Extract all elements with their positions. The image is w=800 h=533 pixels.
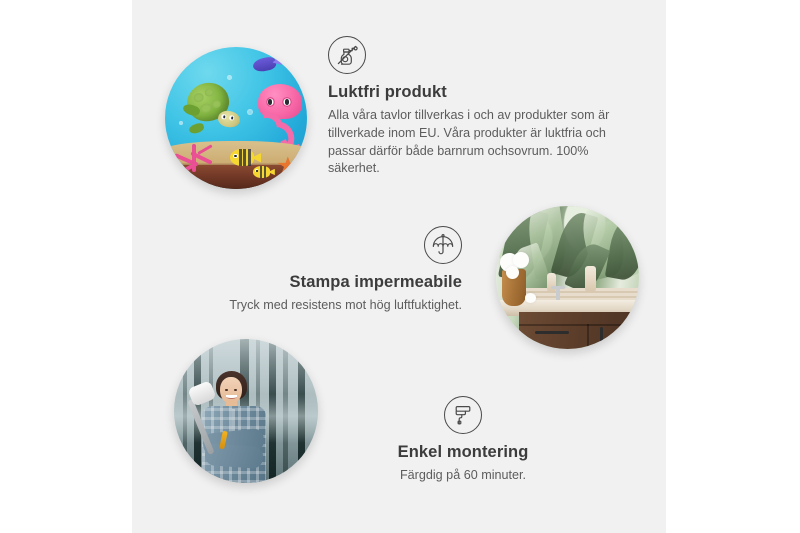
feature-icon-row [192,226,462,264]
smile [226,395,236,400]
umbrella-icon [424,226,462,264]
flower-icon [506,266,519,279]
soap-bottle [547,273,556,292]
photo-underwater-kids-illustration [165,47,307,189]
feature-body: Tryck med resistens mot hög luftfuktighe… [192,297,462,315]
turtle-head [217,110,241,129]
feature-stampa-impermeabile: Stampa impermeabile Tryck med resistens … [192,226,462,315]
feature-icon-row [328,36,634,74]
yellow-fish-illustration [230,149,254,166]
feature-title: Luktfri produkt [328,83,634,103]
content-panel: Luktfri produkt Alla våra tavlor tillver… [132,0,666,533]
yellow-fish-illustration [253,166,270,177]
bathroom-scene [496,206,639,349]
soap-bottle [585,266,596,292]
feature-body: Alla våra tavlor tillverkas i och av pro… [328,107,634,179]
coral-illustration [171,135,219,172]
paint-roller-icon [444,396,482,434]
feature-luktfri-produkt: Luktfri produkt Alla våra tavlor tillver… [328,36,634,178]
turtle-illustration [183,83,240,131]
feature-title: Stampa impermeabile [192,273,462,293]
cabinet-handle [535,331,569,334]
wooden-vanity-cabinet [519,312,639,349]
tile-backsplash [519,288,639,301]
feature-enkel-montering: Enkel montering Färgdig på 60 minuter. [330,396,596,485]
forest-scene [174,339,318,483]
feature-body: Färgdig på 60 minuter. [330,467,596,485]
photo-bathroom-tropical-wallpaper [496,206,639,349]
underwater-scene [165,47,307,189]
cabinet-handle [600,327,603,344]
woman-figure [197,371,278,483]
photo-woman-with-paint-roller-forest [174,339,318,483]
no-odor-spray-bottle-icon [328,36,366,74]
feature-icon-row [330,396,596,434]
feature-title: Enkel montering [330,443,596,463]
flower-icon [513,252,529,268]
screenshot-root: Luktfri produkt Alla våra tavlor tillver… [0,0,800,533]
arm [204,443,263,469]
